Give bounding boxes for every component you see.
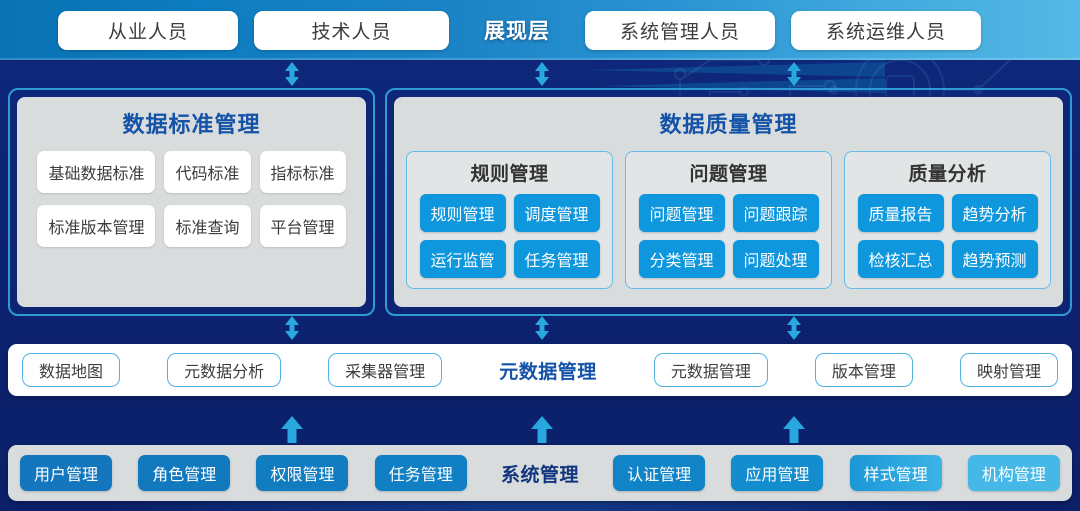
connector-double-arrow-3 <box>779 60 809 88</box>
chip-classification-mgmt[interactable]: 分类管理 <box>639 240 725 278</box>
chip-permission-mgmt[interactable]: 权限管理 <box>256 455 348 491</box>
group-title: 规则管理 <box>470 159 548 186</box>
connector-double-arrow-4 <box>277 314 307 342</box>
chip-label: 检核汇总 <box>868 247 932 271</box>
chip-runtime-monitor[interactable]: 运行监管 <box>420 240 506 278</box>
chip-standard-version-mgmt[interactable]: 标准版本管理 <box>37 205 155 247</box>
chip-label: 映射管理 <box>977 358 1041 382</box>
system-layer-title: 系统管理 <box>493 460 587 487</box>
chip-auth-mgmt[interactable]: 认证管理 <box>613 455 705 491</box>
architecture-diagram: 从业人员 技术人员 展现层 系统管理人员 系统运维人员 数据标准管理 <box>0 0 1080 511</box>
group-grid: 规则管理 调度管理 运行监管 任务管理 <box>420 194 600 278</box>
chip-trend-analysis[interactable]: 趋势分析 <box>952 194 1038 232</box>
chip-standard-query[interactable]: 标准查询 <box>164 205 250 247</box>
chip-label: 问题管理 <box>649 201 713 225</box>
chip-org-mgmt[interactable]: 机构管理 <box>968 455 1060 491</box>
chip-label: 调度管理 <box>524 201 588 225</box>
metadata-layer-bar: 数据地图 元数据分析 采集器管理 元数据管理 元数据管理 版本管理 映射管理 <box>8 344 1072 396</box>
chip-issue-handling[interactable]: 问题处理 <box>733 240 819 278</box>
governance-layer: 数据标准管理 基础数据标准 代码标准 指标标准 <box>0 88 1080 316</box>
chip-metadata-mgmt[interactable]: 元数据管理 <box>654 353 768 387</box>
role-chip-technician[interactable]: 技术人员 <box>254 11 449 50</box>
chip-role-mgmt[interactable]: 角色管理 <box>138 455 230 491</box>
chip-label: 任务管理 <box>389 461 453 485</box>
chip-issue-tracking[interactable]: 问题跟踪 <box>733 194 819 232</box>
connector-double-arrow-1 <box>277 60 307 88</box>
chip-metadata-analysis[interactable]: 元数据分析 <box>167 353 281 387</box>
chip-label: 任务管理 <box>524 247 588 271</box>
metadata-layer-title: 元数据管理 <box>489 357 607 384</box>
chip-label: 用户管理 <box>34 461 98 485</box>
group-title: 问题管理 <box>689 159 767 186</box>
chip-label: 元数据管理 <box>671 358 751 382</box>
chip-label: 机构管理 <box>982 461 1046 485</box>
role-label: 技术人员 <box>311 17 391 44</box>
connector-double-arrow-5 <box>527 314 557 342</box>
chip-label: 代码标准 <box>175 160 239 184</box>
data-quality-groups: 规则管理 规则管理 调度管理 运行监管 任务管理 问题管理 问题管理 问题跟踪 <box>406 151 1051 289</box>
connector-double-arrow-6 <box>779 314 809 342</box>
chip-task-mgmt[interactable]: 任务管理 <box>514 240 600 278</box>
chip-platform-mgmt[interactable]: 平台管理 <box>260 205 346 247</box>
chip-mapping-mgmt[interactable]: 映射管理 <box>960 353 1058 387</box>
chip-schedule-mgmt[interactable]: 调度管理 <box>514 194 600 232</box>
chip-version-mgmt[interactable]: 版本管理 <box>815 353 913 387</box>
chip-label: 认证管理 <box>627 461 691 485</box>
connector-arrow-up-3 <box>779 414 809 444</box>
chip-label: 权限管理 <box>270 461 334 485</box>
data-standard-row: 基础数据标准 代码标准 指标标准 <box>37 151 345 193</box>
group-rule-management: 规则管理 规则管理 调度管理 运行监管 任务管理 <box>406 151 613 289</box>
chip-user-mgmt[interactable]: 用户管理 <box>20 455 112 491</box>
chip-label: 版本管理 <box>832 358 896 382</box>
chip-label: 规则管理 <box>430 201 494 225</box>
chip-app-mgmt[interactable]: 应用管理 <box>731 455 823 491</box>
system-layer-bar: 用户管理 角色管理 权限管理 任务管理 系统管理 认证管理 应用管理 样式管理 … <box>8 445 1072 501</box>
chip-label: 标准查询 <box>175 214 239 238</box>
data-standard-title: 数据标准管理 <box>122 107 260 139</box>
chip-indicator-standard[interactable]: 指标标准 <box>260 151 346 193</box>
chip-sys-task-mgmt[interactable]: 任务管理 <box>375 455 467 491</box>
chip-label: 趋势分析 <box>962 201 1026 225</box>
chip-label: 运行监管 <box>430 247 494 271</box>
role-label: 系统运维人员 <box>826 17 946 44</box>
role-label: 从业人员 <box>108 17 188 44</box>
chip-trend-forecast[interactable]: 趋势预测 <box>952 240 1038 278</box>
group-grid: 问题管理 问题跟踪 分类管理 问题处理 <box>639 194 819 278</box>
connector-arrow-up-1 <box>277 414 307 444</box>
chip-label: 角色管理 <box>152 461 216 485</box>
chip-code-standard[interactable]: 代码标准 <box>164 151 250 193</box>
chip-label: 指标标准 <box>271 160 335 184</box>
chip-label: 问题跟踪 <box>743 201 807 225</box>
chip-label: 分类管理 <box>649 247 713 271</box>
data-standard-panel: 数据标准管理 基础数据标准 代码标准 指标标准 <box>8 88 375 316</box>
chip-label: 趋势预测 <box>962 247 1026 271</box>
chip-quality-report[interactable]: 质量报告 <box>858 194 944 232</box>
data-standard-card: 数据标准管理 基础数据标准 代码标准 指标标准 <box>17 97 366 307</box>
chip-basic-data-standard[interactable]: 基础数据标准 <box>37 151 155 193</box>
chip-label: 标准版本管理 <box>48 214 144 238</box>
chip-label: 平台管理 <box>271 214 335 238</box>
group-grid: 质量报告 趋势分析 检核汇总 趋势预测 <box>858 194 1038 278</box>
role-chip-sysadmin[interactable]: 系统管理人员 <box>585 11 775 50</box>
connector-arrow-up-2 <box>527 414 557 444</box>
chip-collector-mgmt[interactable]: 采集器管理 <box>328 353 442 387</box>
role-chip-practitioner[interactable]: 从业人员 <box>58 11 238 50</box>
data-quality-title: 数据质量管理 <box>659 107 797 139</box>
chip-style-mgmt[interactable]: 样式管理 <box>850 455 942 491</box>
group-title: 质量分析 <box>908 159 986 186</box>
group-issue-management: 问题管理 问题管理 问题跟踪 分类管理 问题处理 <box>625 151 832 289</box>
chip-data-map[interactable]: 数据地图 <box>22 353 120 387</box>
chip-label: 基础数据标准 <box>48 160 144 184</box>
group-quality-analysis: 质量分析 质量报告 趋势分析 检核汇总 趋势预测 <box>844 151 1051 289</box>
chip-label: 应用管理 <box>745 461 809 485</box>
chip-label: 数据地图 <box>39 358 103 382</box>
chip-label: 问题处理 <box>743 247 807 271</box>
presentation-layer-row: 从业人员 技术人员 展现层 系统管理人员 系统运维人员 <box>0 0 1080 60</box>
chip-label: 质量报告 <box>868 201 932 225</box>
chip-label: 元数据分析 <box>184 358 264 382</box>
chip-issue-mgmt[interactable]: 问题管理 <box>639 194 725 232</box>
chip-label: 样式管理 <box>864 461 928 485</box>
data-standard-row: 标准版本管理 标准查询 平台管理 <box>37 205 345 247</box>
presentation-layer-title: 展现层 <box>465 15 569 45</box>
role-label: 系统管理人员 <box>620 17 740 44</box>
chip-rule-mgmt[interactable]: 规则管理 <box>420 194 506 232</box>
data-standard-grid: 基础数据标准 代码标准 指标标准 标准版本管理 <box>29 151 354 247</box>
chip-label: 采集器管理 <box>345 358 425 382</box>
data-quality-panel: 数据质量管理 规则管理 规则管理 调度管理 运行监管 任务管理 问题管理 <box>385 88 1072 316</box>
connector-double-arrow-2 <box>527 60 557 88</box>
role-chip-sysops[interactable]: 系统运维人员 <box>791 11 981 50</box>
data-quality-card: 数据质量管理 规则管理 规则管理 调度管理 运行监管 任务管理 问题管理 <box>394 97 1063 307</box>
chip-audit-summary[interactable]: 检核汇总 <box>858 240 944 278</box>
